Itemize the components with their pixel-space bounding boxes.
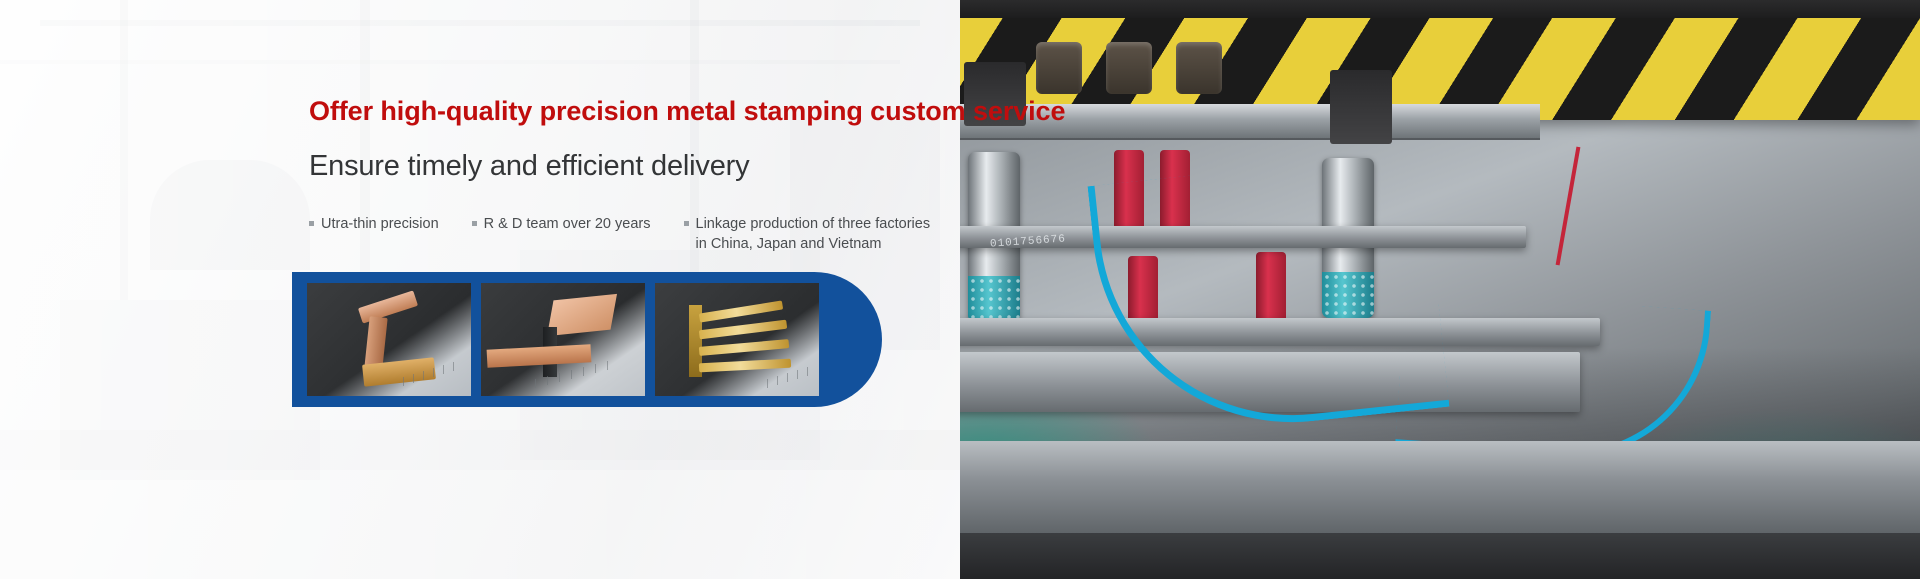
coolant-hose bbox=[1395, 290, 1711, 467]
press-base-plate bbox=[860, 441, 1920, 537]
product-thumbnail[interactable] bbox=[481, 283, 645, 396]
press-bolt bbox=[1106, 42, 1152, 94]
list-item: R & D team over 20 years bbox=[472, 214, 651, 234]
red-wire bbox=[1556, 147, 1581, 266]
feature-label: R & D team over 20 years bbox=[484, 216, 651, 232]
hero-banner: 0101756676 Offer high-quality precision … bbox=[0, 0, 1920, 579]
product-thumbnail[interactable] bbox=[655, 283, 819, 396]
press-bolt bbox=[1036, 42, 1082, 94]
feature-label: Linkage production of three factories bbox=[696, 216, 931, 232]
list-item: Utra-thin precision bbox=[309, 214, 439, 234]
product-thumbnail[interactable] bbox=[307, 283, 471, 396]
press-top-shadow bbox=[860, 0, 1920, 18]
feature-list: Utra-thin precision R & D team over 20 y… bbox=[309, 214, 930, 254]
banner-content: Offer high-quality precision metal stamp… bbox=[0, 0, 960, 579]
bullet-square-icon bbox=[684, 221, 689, 226]
press-stamp-block bbox=[1330, 70, 1392, 144]
press-bolt bbox=[1176, 42, 1222, 94]
feature-label: Utra-thin precision bbox=[321, 216, 439, 232]
bullet-square-icon bbox=[472, 221, 477, 226]
ruler-ticks bbox=[655, 350, 819, 396]
product-gallery-panel bbox=[292, 272, 882, 407]
bullet-square-icon bbox=[309, 221, 314, 226]
ruler-ticks bbox=[481, 350, 645, 396]
feature-label-line2: in China, Japan and Vietnam bbox=[696, 234, 931, 254]
press-bed bbox=[860, 533, 1920, 579]
page-subtitle: Ensure timely and efficient delivery bbox=[309, 150, 749, 183]
thumbnail-strip bbox=[307, 283, 819, 396]
ruler-ticks bbox=[307, 350, 471, 396]
page-title: Offer high-quality precision metal stamp… bbox=[309, 96, 1065, 127]
list-item: Linkage production of three factories in… bbox=[684, 214, 931, 254]
